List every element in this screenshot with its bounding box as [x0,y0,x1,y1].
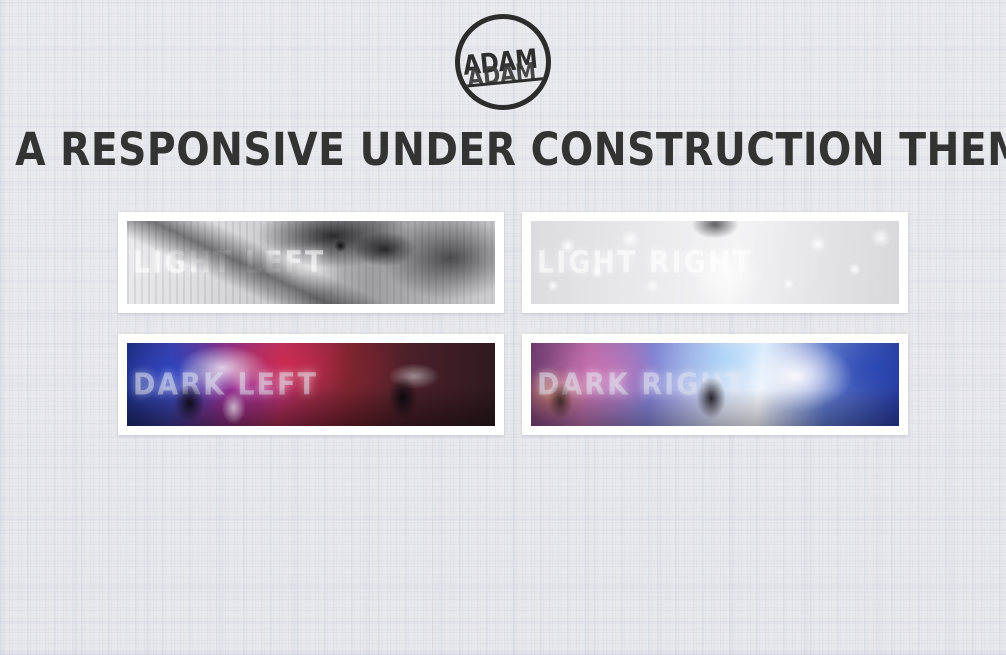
gallery-item-light-left[interactable]: LIGHT LEFT [118,212,504,313]
gallery-photo-label: DARK LEFT [133,367,318,402]
gallery-photo-label: LIGHT RIGHT [537,245,753,280]
gallery-photo-label: DARK RIGHT [537,367,745,402]
gallery-grid: LIGHT LEFTLIGHT RIGHTDARK LEFTDARK RIGHT [118,212,908,435]
gallery-item-light-right[interactable]: LIGHT RIGHT [522,212,908,313]
gallery-photo: LIGHT LEFT [127,221,495,304]
gallery-photo: LIGHT RIGHT [531,221,899,304]
gallery-photo-label: LIGHT LEFT [133,245,325,280]
gallery-photo: DARK RIGHT [531,343,899,426]
gallery-item-dark-right[interactable]: DARK RIGHT [522,334,908,435]
circle-badge-icon[interactable]: ADAM ADAM [455,14,551,110]
page-title: A RESPONSIVE UNDER CONSTRUCTION THEME. [15,126,991,173]
gallery-item-dark-left[interactable]: DARK LEFT [118,334,504,435]
logo-area: ADAM ADAM [0,14,1006,110]
gallery-photo: DARK LEFT [127,343,495,426]
logo-wordmark: ADAM ADAM [462,45,544,80]
